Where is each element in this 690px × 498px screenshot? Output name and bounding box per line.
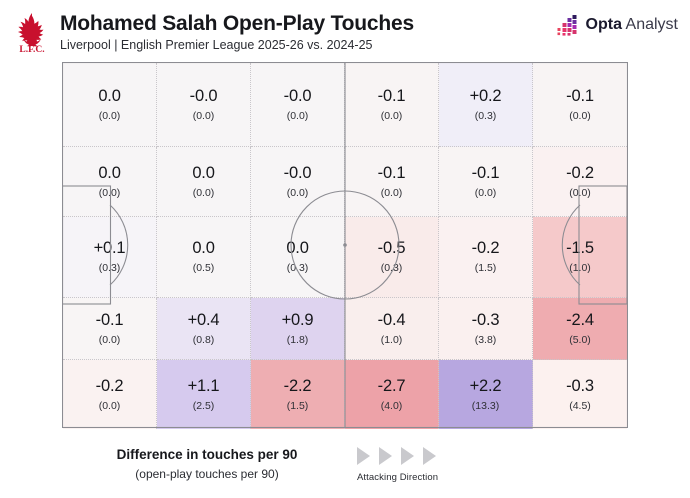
attacking-direction-label: Attacking Direction [355,472,555,483]
cell-touches-value: (0.0) [99,186,121,200]
heatmap-cell: -0.0(0.0) [157,63,251,147]
play-triangle-right-icon [401,447,414,465]
liverpool-fc-crest-icon: L.F.C. [10,9,54,55]
heatmap-cell: 0.0(0.3) [251,217,345,298]
heatmap-grid: 0.0(0.0)-0.0(0.0)-0.0(0.0)-0.1(0.0)+0.2(… [62,62,628,428]
legend-subtitle: (open-play touches per 90) [62,466,352,483]
legend: Difference in touches per 90 (open-play … [62,446,352,483]
heatmap-cell: 0.0(0.0) [63,147,157,217]
cell-difference-value: -2.7 [378,377,406,396]
cell-touches-value: (0.0) [569,109,591,123]
opta-analyst-logo: Opta Analyst [556,14,678,36]
cell-difference-value: +0.1 [94,239,126,258]
cell-difference-value: -0.4 [378,311,406,330]
svg-text:L.F.C.: L.F.C. [19,45,44,54]
heatmap-cell: +0.9(1.8) [251,298,345,360]
footer: Difference in touches per 90 (open-play … [0,438,690,498]
cell-difference-value: -0.2 [472,239,500,258]
heatmap-cell: +0.1(0.3) [63,217,157,298]
title-block: Mohamed Salah Open-Play Touches Liverpoo… [60,9,414,54]
pitch-heatmap: 0.0(0.0)-0.0(0.0)-0.0(0.0)-0.1(0.0)+0.2(… [62,62,628,428]
cell-touches-value: (0.0) [287,186,309,200]
heatmap-cell: -1.5(1.0) [533,217,627,298]
cell-difference-value: -0.5 [378,239,406,258]
heatmap-cell: +2.2(13.3) [439,360,533,429]
cell-difference-value: -2.4 [566,311,594,330]
cell-difference-value: +1.1 [188,377,220,396]
cell-difference-value: -2.2 [284,377,312,396]
cell-difference-value: -1.5 [566,239,594,258]
cell-touches-value: (1.5) [287,399,309,413]
play-triangle-right-icon [357,447,370,465]
play-triangle-right-icon [423,447,436,465]
cell-touches-value: (0.3) [99,261,121,275]
cell-difference-value: 0.0 [192,239,214,258]
cell-touches-value: (0.0) [193,109,215,123]
cell-touches-value: (0.0) [99,109,121,123]
cell-difference-value: -0.1 [472,164,500,183]
opta-bar-mark-icon [556,14,580,36]
cell-touches-value: (1.0) [569,261,591,275]
cell-touches-value: (0.3) [475,109,497,123]
heatmap-cell: -0.2(0.0) [533,147,627,217]
cell-difference-value: 0.0 [98,87,120,106]
cell-touches-value: (0.0) [193,186,215,200]
cell-touches-value: (0.3) [287,261,309,275]
cell-difference-value: -0.0 [190,87,218,106]
opta-word: Opta [586,16,622,33]
cell-touches-value: (13.3) [472,399,499,413]
opta-wordmark: Opta Analyst [586,16,678,34]
cell-difference-value: -0.2 [96,377,124,396]
cell-touches-value: (4.0) [381,399,403,413]
cell-difference-value: +0.9 [282,311,314,330]
heatmap-cell: 0.0(0.5) [157,217,251,298]
cell-difference-value: 0.0 [286,239,308,258]
page-subtitle: Liverpool | English Premier League 2025-… [60,37,414,54]
cell-touches-value: (0.0) [381,109,403,123]
heatmap-cell: -0.3(3.8) [439,298,533,360]
legend-title: Difference in touches per 90 [62,446,352,464]
cell-difference-value: -0.1 [378,164,406,183]
cell-touches-value: (4.5) [569,399,591,413]
heatmap-cell: -0.3(4.5) [533,360,627,429]
heatmap-cell: -0.4(1.0) [345,298,439,360]
cell-touches-value: (0.3) [381,261,403,275]
heatmap-cell: 0.0(0.0) [157,147,251,217]
cell-touches-value: (1.0) [381,333,403,347]
cell-touches-value: (0.0) [569,186,591,200]
heatmap-cell: -0.0(0.0) [251,63,345,147]
cell-difference-value: +0.4 [188,311,220,330]
heatmap-cell: -0.0(0.0) [251,147,345,217]
heatmap-cell: -0.2(0.0) [63,360,157,429]
cell-touches-value: (2.5) [193,399,215,413]
heatmap-cell: -2.7(4.0) [345,360,439,429]
cell-touches-value: (1.5) [475,261,497,275]
cell-difference-value: -0.0 [284,164,312,183]
heatmap-cell: 0.0(0.0) [63,63,157,147]
heatmap-cell: -2.2(1.5) [251,360,345,429]
cell-difference-value: -0.3 [472,311,500,330]
cell-touches-value: (0.0) [381,186,403,200]
cell-touches-value: (0.0) [99,333,121,347]
cell-difference-value: 0.0 [98,164,120,183]
heatmap-cell: -0.2(1.5) [439,217,533,298]
cell-difference-value: -0.3 [566,377,594,396]
cell-difference-value: +2.2 [470,377,502,396]
heatmap-cell: +0.2(0.3) [439,63,533,147]
header: L.F.C. Mohamed Salah Open-Play Touches L… [0,0,690,58]
cell-difference-value: -0.2 [566,164,594,183]
cell-touches-value: (3.8) [475,333,497,347]
cell-difference-value: -0.1 [566,87,594,106]
cell-touches-value: (0.0) [475,186,497,200]
play-triangle-right-icon [379,447,392,465]
heatmap-cell: -0.1(0.0) [345,63,439,147]
cell-difference-value: 0.0 [192,164,214,183]
heatmap-cell: -0.1(0.0) [63,298,157,360]
cell-touches-value: (1.8) [287,333,309,347]
heatmap-cell: -0.1(0.0) [345,147,439,217]
cell-difference-value: +0.2 [470,87,502,106]
cell-touches-value: (0.0) [99,399,121,413]
heatmap-cell: -2.4(5.0) [533,298,627,360]
analyst-word: Analyst [622,16,678,33]
attacking-direction: Attacking Direction [355,446,555,483]
cell-difference-value: -0.1 [378,87,406,106]
direction-arrows [355,446,555,466]
cell-touches-value: (5.0) [569,333,591,347]
heatmap-cell: -0.1(0.0) [533,63,627,147]
page-title: Mohamed Salah Open-Play Touches [60,11,414,36]
cell-touches-value: (0.5) [193,261,215,275]
heatmap-cell: +1.1(2.5) [157,360,251,429]
cell-touches-value: (0.0) [287,109,309,123]
heatmap-cell: -0.1(0.0) [439,147,533,217]
heatmap-cell: -0.5(0.3) [345,217,439,298]
chart-page: L.F.C. Mohamed Salah Open-Play Touches L… [0,0,690,498]
heatmap-cell: +0.4(0.8) [157,298,251,360]
cell-touches-value: (0.8) [193,333,215,347]
cell-difference-value: -0.1 [96,311,124,330]
cell-difference-value: -0.0 [284,87,312,106]
